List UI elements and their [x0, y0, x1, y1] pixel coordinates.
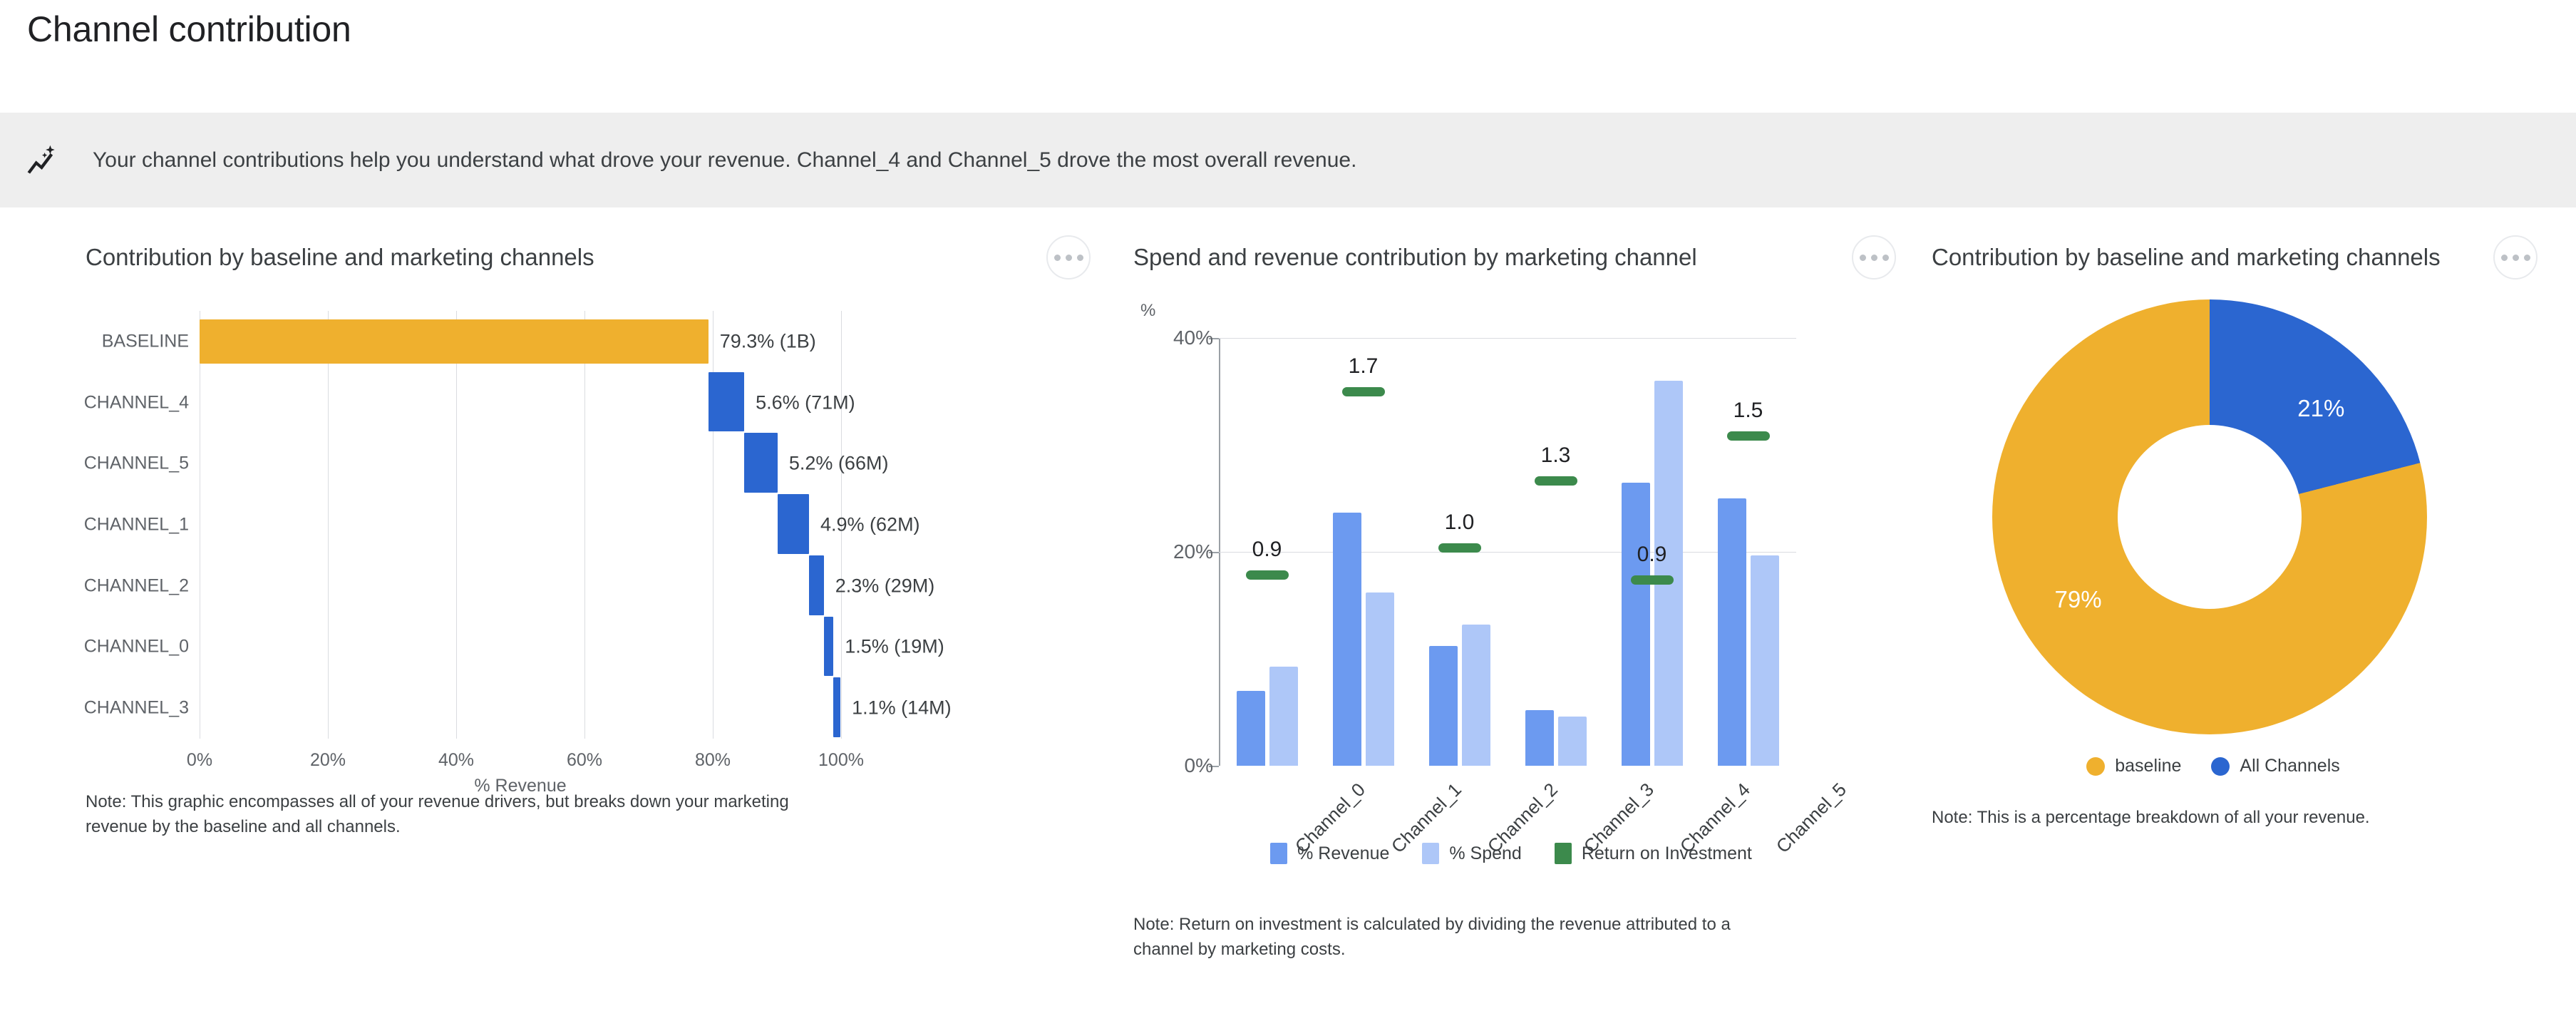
grouped-bar-group: 1.3Channel_3 [1508, 338, 1604, 766]
waterfall-category-label: CHANNEL_3 [84, 698, 189, 719]
legend-label: baseline [2115, 756, 2181, 776]
roi-value-label: 1.7 [1349, 354, 1379, 379]
waterfall-value-label: 1.1% (14M) [852, 697, 952, 719]
roi-marker[interactable] [1246, 570, 1289, 580]
waterfall-value-label: 5.2% (66M) [789, 453, 889, 475]
waterfall-bar[interactable] [709, 372, 744, 432]
card-header-waterfall: Contribution by baseline and marketing c… [86, 235, 1119, 279]
bar-spend[interactable] [1558, 717, 1587, 766]
waterfall-bar[interactable] [200, 319, 709, 364]
card-header-donut: Contribution by baseline and marketing c… [1932, 235, 2566, 279]
card-title-donut: Contribution by baseline and marketing c… [1932, 244, 2441, 271]
grouped-bar-y-tick: 40% [1173, 327, 1213, 349]
waterfall-x-tick: 60% [567, 750, 602, 771]
page-title: Channel contribution [27, 9, 351, 50]
legend-dot-icon [2211, 757, 2230, 776]
kebab-menu-icon[interactable] [2493, 235, 2538, 279]
legend-item[interactable]: All Channels [2211, 756, 2339, 776]
donut-chart: 21%79% baselineAll Channels [1932, 292, 2545, 834]
waterfall-bar[interactable] [778, 494, 809, 554]
bar-spend[interactable] [1366, 592, 1394, 766]
legend-swatch-icon [1422, 843, 1439, 864]
waterfall-category-label: BASELINE [102, 331, 189, 352]
waterfall-row: CHANNEL_55.2% (66M) [200, 433, 841, 494]
kebab-menu-icon[interactable] [1046, 235, 1091, 279]
bar-revenue[interactable] [1237, 691, 1265, 766]
grouped-bar-plot-area: 0%20%40%0.9Channel_01.7Channel_11.0Chann… [1219, 338, 1796, 766]
grouped-bar-chart: % 0%20%40%0.9Channel_01.7Channel_11.0Cha… [1133, 301, 1889, 900]
waterfall-x-tick: 40% [438, 750, 474, 771]
roi-marker[interactable] [1631, 575, 1674, 585]
legend-label: % Spend [1449, 843, 1521, 864]
waterfall-plot-area: 0%20%40%60%80%100%BASELINE79.3% (1B)CHAN… [200, 311, 841, 739]
waterfall-category-label: CHANNEL_0 [84, 637, 189, 657]
waterfall-bar[interactable] [833, 677, 840, 737]
waterfall-row: CHANNEL_01.5% (19M) [200, 617, 841, 678]
grouped-bar-group: 1.0Channel_2 [1411, 338, 1508, 766]
roi-marker[interactable] [1438, 543, 1481, 553]
grouped-bar-group: 0.9Channel_0 [1219, 338, 1315, 766]
waterfall-row: BASELINE79.3% (1B) [200, 311, 841, 372]
grouped-bar-group: 0.9Channel_4 [1604, 338, 1700, 766]
waterfall-value-label: 4.9% (62M) [820, 513, 920, 535]
roi-value-label: 1.5 [1733, 399, 1763, 423]
waterfall-category-label: CHANNEL_4 [84, 392, 189, 413]
card-title-spend-revenue: Spend and revenue contribution by market… [1133, 244, 1697, 271]
legend-item[interactable]: % Spend [1422, 843, 1521, 864]
card-donut: Contribution by baseline and marketing c… [1925, 235, 2566, 1020]
roi-value-label: 1.0 [1445, 510, 1475, 535]
bar-revenue[interactable] [1333, 513, 1361, 766]
legend-swatch-icon [1270, 843, 1287, 864]
waterfall-x-tick: 0% [187, 750, 212, 771]
insight-banner-text: Your channel contributions help you unde… [93, 148, 1356, 173]
waterfall-chart: 0%20%40%60%80%100%BASELINE79.3% (1B)CHAN… [86, 305, 977, 804]
card-header-spend-revenue: Spend and revenue contribution by market… [1133, 235, 1925, 279]
waterfall-bar[interactable] [824, 617, 834, 677]
bar-revenue[interactable] [1718, 498, 1746, 766]
note-spend-revenue: Note: Return on investment is calculated… [1133, 913, 1746, 963]
waterfall-x-tick: 80% [695, 750, 731, 771]
legend-item[interactable]: Return on Investment [1555, 843, 1752, 864]
donut-label-all-channels: 21% [2297, 395, 2344, 422]
waterfall-bar[interactable] [744, 433, 778, 493]
roi-marker[interactable] [1727, 431, 1770, 441]
legend-item[interactable]: % Revenue [1270, 843, 1389, 864]
waterfall-row: CHANNEL_14.9% (62M) [200, 494, 841, 555]
waterfall-value-label: 79.3% (1B) [720, 330, 816, 352]
bar-revenue[interactable] [1622, 483, 1650, 766]
waterfall-x-tick: 100% [818, 750, 864, 771]
donut-label-baseline: 79% [2054, 586, 2101, 613]
roi-value-label: 1.3 [1541, 443, 1571, 468]
grouped-bar-group: 1.7Channel_1 [1315, 338, 1411, 766]
waterfall-value-label: 5.6% (71M) [756, 391, 855, 414]
legend-label: % Revenue [1297, 843, 1389, 864]
card-contribution-waterfall: Contribution by baseline and marketing c… [0, 235, 1119, 1020]
waterfall-category-label: CHANNEL_2 [84, 575, 189, 596]
waterfall-row: CHANNEL_31.1% (14M) [200, 677, 841, 739]
y-axis-unit-label: % [1140, 301, 1155, 321]
bar-spend[interactable] [1654, 381, 1683, 766]
donut-hole [2118, 425, 2302, 609]
bar-spend[interactable] [1269, 667, 1298, 766]
waterfall-category-label: CHANNEL_5 [84, 453, 189, 474]
waterfall-x-axis-label: % Revenue [200, 776, 841, 796]
legend-dot-icon [2086, 757, 2105, 776]
card-title-waterfall: Contribution by baseline and marketing c… [86, 244, 594, 271]
waterfall-row: CHANNEL_22.3% (29M) [200, 555, 841, 617]
legend-label: All Channels [2240, 756, 2339, 776]
waterfall-category-label: CHANNEL_1 [84, 514, 189, 535]
insight-banner: Your channel contributions help you unde… [0, 113, 2576, 207]
legend-item[interactable]: baseline [2086, 756, 2181, 776]
roi-marker[interactable] [1535, 476, 1577, 486]
donut-legend: baselineAll Channels [1932, 756, 2495, 776]
kebab-menu-icon[interactable] [1852, 235, 1896, 279]
roi-value-label: 0.9 [1637, 543, 1667, 567]
waterfall-x-tick: 20% [310, 750, 346, 771]
roi-value-label: 0.9 [1252, 538, 1282, 562]
grouped-bar-group: 1.5Channel_5 [1700, 338, 1796, 766]
waterfall-row: CHANNEL_45.6% (71M) [200, 372, 841, 433]
waterfall-bar[interactable] [809, 555, 824, 615]
bar-spend[interactable] [1462, 625, 1490, 766]
insights-sparkle-icon [20, 140, 61, 181]
legend-swatch-icon [1555, 843, 1572, 864]
grouped-bar-y-tick: 20% [1173, 540, 1213, 563]
donut-plot-area: 21%79% [1992, 299, 2427, 734]
charts-row: Contribution by baseline and marketing c… [0, 235, 2576, 1020]
waterfall-value-label: 2.3% (29M) [835, 575, 935, 597]
legend-label: Return on Investment [1582, 843, 1752, 864]
bar-spend[interactable] [1751, 555, 1779, 766]
grouped-bar-y-tick: 0% [1185, 754, 1213, 777]
card-spend-revenue: Spend and revenue contribution by market… [1119, 235, 1925, 1020]
roi-marker[interactable] [1342, 387, 1385, 396]
waterfall-value-label: 1.5% (19M) [845, 636, 944, 658]
bar-revenue[interactable] [1525, 710, 1554, 766]
grouped-bar-legend: % Revenue% SpendReturn on Investment [1219, 843, 1803, 864]
bar-revenue[interactable] [1429, 646, 1458, 766]
